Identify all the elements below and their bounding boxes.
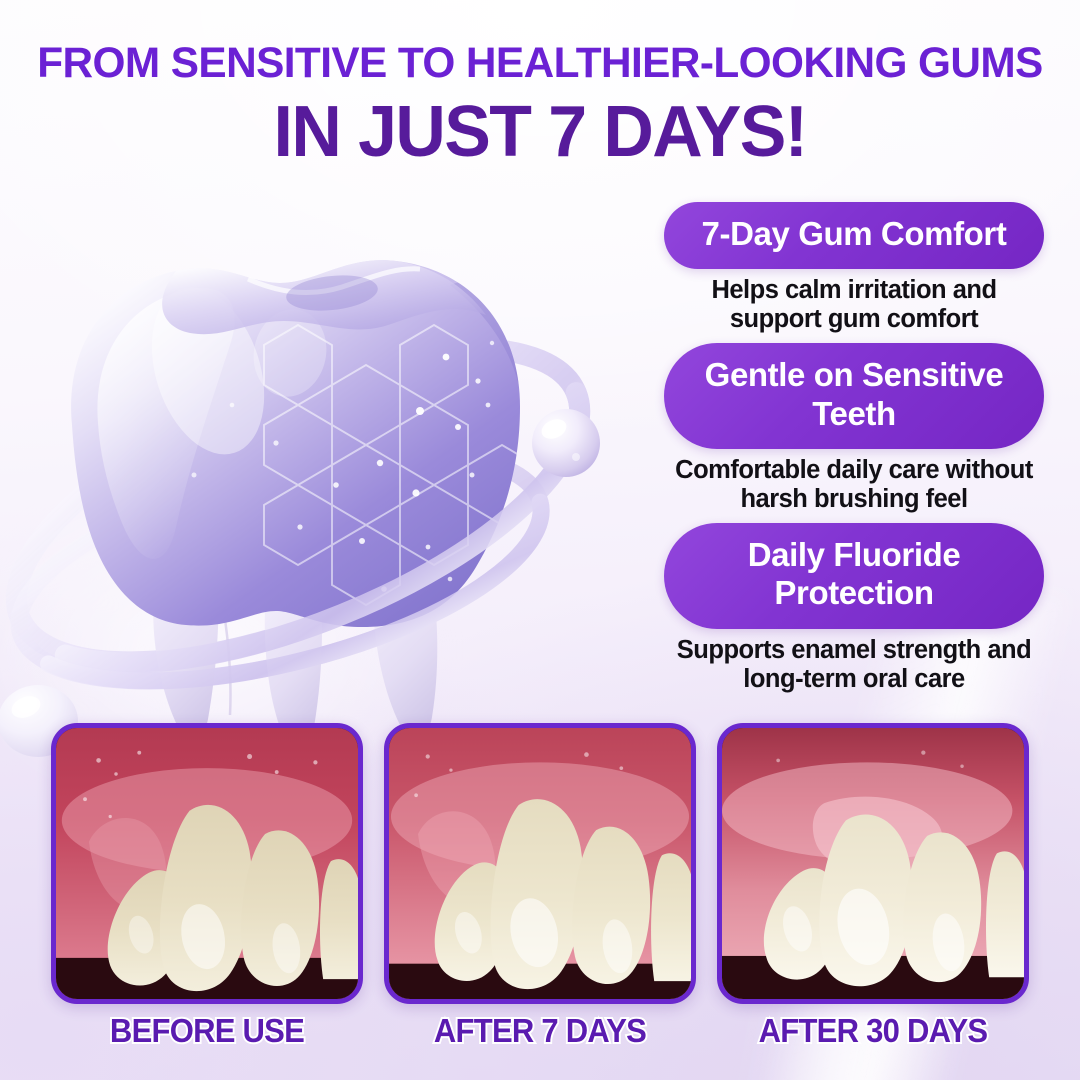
caption-before-use: BEFORE USE [60,1012,353,1050]
comparison-photo-after-30-days[interactable] [717,723,1029,1004]
benefit-item-2: Gentle on Sensitive Teeth Comfortable da… [664,343,1044,514]
benefit-item-1: 7-Day Gum Comfort Helps calm irritation … [664,202,1044,334]
headline-primary: FROM SENSITIVE TO HEALTHIER-LOOKING GUMS [8,42,1072,85]
benefit-title-pill-1[interactable]: 7-Day Gum Comfort [664,202,1044,269]
comparison-photo-after-7-days[interactable] [384,723,696,1004]
benefit-subtitle-2: Comfortable daily care without harsh bru… [664,449,1044,514]
headline-secondary: IN JUST 7 DAYS! [16,96,1064,168]
ad-creative-canvas: FROM SENSITIVE TO HEALTHIER-LOOKING GUMS… [0,0,1080,1080]
benefits-list: 7-Day Gum Comfort Helps calm irritation … [664,202,1044,703]
sphere-bead [532,409,600,477]
caption-after-30-days: AFTER 30 DAYS [726,1012,1019,1050]
before-after-gallery [0,723,1080,1013]
comparison-photo-before[interactable] [51,723,363,1004]
caption-after-7-days: AFTER 7 DAYS [393,1012,686,1050]
benefit-subtitle-3: Supports enamel strength and long-term o… [664,629,1044,694]
benefit-item-3: Daily Fluoride Protection Supports ename… [664,523,1044,694]
benefit-subtitle-1: Helps calm irritation and support gum co… [664,269,1044,334]
tooth-crown [71,255,540,635]
benefit-title-pill-2[interactable]: Gentle on Sensitive Teeth [664,343,1044,449]
hero-tooth-illustration [0,175,680,755]
comparison-captions: BEFORE USE AFTER 7 DAYS AFTER 30 DAYS [0,1012,1080,1060]
benefit-title-pill-3[interactable]: Daily Fluoride Protection [664,523,1044,629]
